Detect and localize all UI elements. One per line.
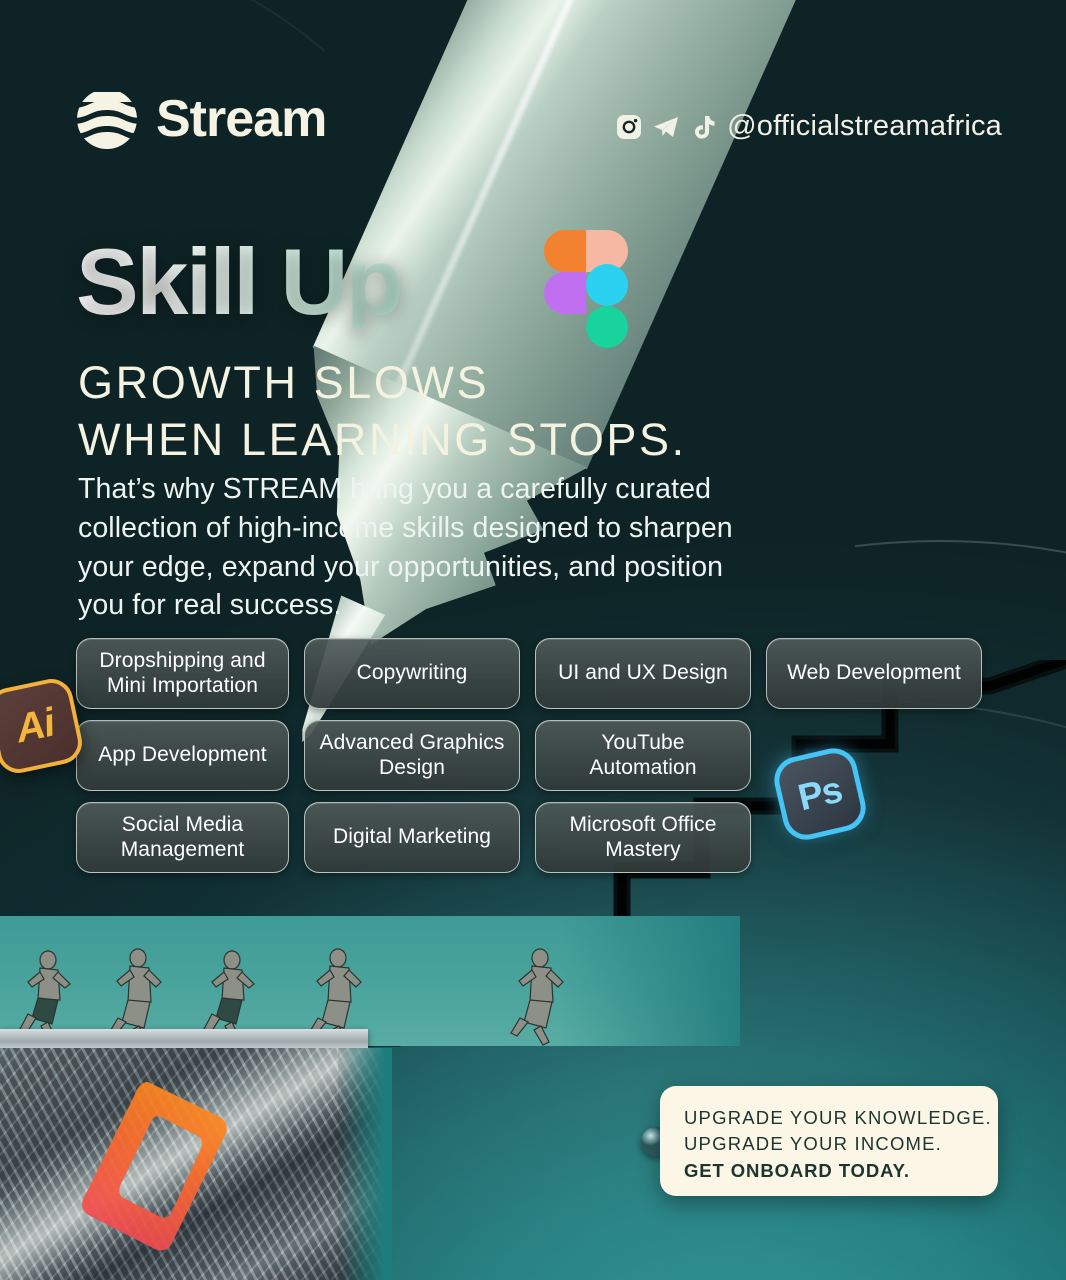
cta-line-2: UPGRADE YOUR INCOME. bbox=[684, 1131, 998, 1157]
skills-row: Dropshipping and Mini Importation Copywr… bbox=[76, 638, 982, 709]
band-fade bbox=[560, 916, 740, 1046]
subtitle-line-2: WHEN LEARNING STOPS. bbox=[78, 412, 687, 469]
photoshop-label: Ps bbox=[794, 769, 846, 820]
skill-chip[interactable]: Social Media Management bbox=[76, 802, 289, 873]
figma-logo-icon bbox=[534, 228, 638, 354]
skill-chip[interactable]: UI and UX Design bbox=[535, 638, 751, 709]
body-paragraph: That’s why STREAM bring you a carefully … bbox=[78, 470, 768, 625]
skill-chip[interactable]: Advanced Graphics Design bbox=[304, 720, 520, 791]
cta-line-1: UPGRADE YOUR KNOWLEDGE. bbox=[684, 1105, 998, 1131]
skill-chip[interactable]: YouTube Automation bbox=[535, 720, 751, 791]
telegram-icon[interactable] bbox=[653, 114, 679, 140]
skill-chip[interactable]: App Development bbox=[76, 720, 289, 791]
page-subtitle: GROWTH SLOWS WHEN LEARNING STOPS. bbox=[78, 355, 687, 468]
tiktok-icon[interactable] bbox=[690, 114, 716, 140]
skill-chip[interactable]: Copywriting bbox=[304, 638, 520, 709]
skill-chip[interactable]: Digital Marketing bbox=[304, 802, 520, 873]
brand-name: Stream bbox=[156, 93, 326, 145]
instagram-icon[interactable] bbox=[616, 114, 642, 140]
cta-card[interactable]: UPGRADE YOUR KNOWLEDGE. UPGRADE YOUR INC… bbox=[660, 1086, 998, 1196]
runners-band bbox=[0, 916, 740, 1046]
skill-chip[interactable]: Microsoft Office Mastery bbox=[535, 802, 751, 873]
illustrator-label: Ai bbox=[12, 700, 59, 752]
poster-canvas: Stream @officialstreamafrica Skill Up GR… bbox=[0, 0, 1066, 1280]
skill-chip[interactable]: Web Development bbox=[766, 638, 982, 709]
page-title: Skill Up bbox=[76, 236, 401, 328]
brand-logo[interactable]: Stream bbox=[76, 88, 326, 150]
social-links[interactable]: @officialstreamafrica bbox=[616, 110, 1002, 143]
cta-line-3: GET ONBOARD TODAY. bbox=[684, 1158, 998, 1184]
runner-figure bbox=[510, 948, 568, 1046]
social-handle[interactable]: @officialstreamafrica bbox=[727, 110, 1002, 143]
skill-chip[interactable]: Dropshipping and Mini Importation bbox=[76, 638, 289, 709]
stream-wave-circle-icon bbox=[76, 88, 138, 150]
subtitle-line-1: GROWTH SLOWS bbox=[78, 355, 687, 412]
